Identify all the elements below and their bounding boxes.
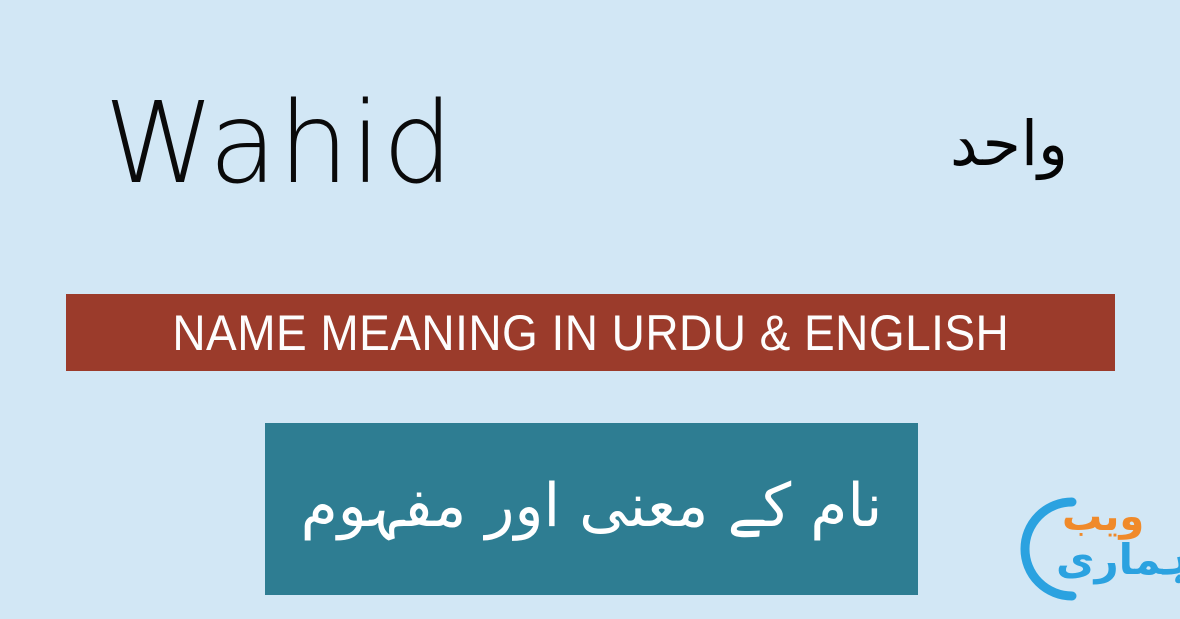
urdu-meaning-banner: نام کے معنی اور مفہوم [265,423,918,595]
name-latin-heading: Wahid [104,88,454,200]
logo-word-web: ویب [1062,496,1144,538]
site-logo[interactable]: ویب ہماری [1010,492,1170,614]
name-meaning-graphic: Wahid واحد NAME MEANING IN URDU & ENGLIS… [0,0,1180,619]
name-urdu-heading: واحد [950,106,1068,182]
logo-word-hamari: ہماری [1056,538,1180,582]
urdu-meaning-banner-text: نام کے معنی اور مفہوم [301,458,883,560]
english-meaning-banner-text: NAME MEANING IN URDU & ENGLISH [172,307,1009,359]
english-meaning-banner: NAME MEANING IN URDU & ENGLISH [66,294,1115,371]
